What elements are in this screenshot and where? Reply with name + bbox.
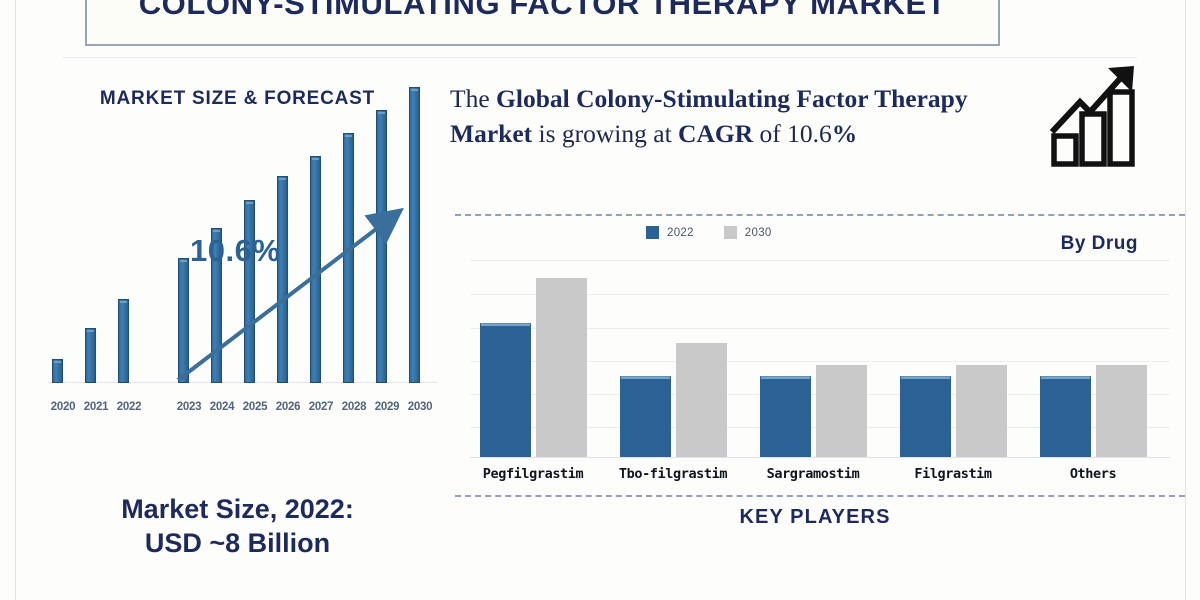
- category-label: Others: [1008, 466, 1178, 482]
- headline-segment-cagr: CAGR: [678, 119, 753, 148]
- market-size-line-2: USD ~8 Billion: [30, 527, 445, 561]
- forecast-bar-chart: 2020202120222023202420252026202720282029…: [30, 138, 445, 443]
- headline-segment-value: of 10.6: [753, 119, 832, 148]
- market-size-line-1: Market Size, 2022:: [30, 493, 445, 527]
- header-divider: [62, 57, 1137, 58]
- chart-axis-line: [470, 457, 1170, 458]
- divider-top-dashed: [455, 214, 1185, 216]
- bar-highlight: [312, 158, 319, 160]
- legend-label: 2022: [667, 227, 694, 239]
- bar-2022: [480, 323, 531, 457]
- bar-2030: [1096, 365, 1147, 457]
- bar-2022: [1040, 376, 1091, 457]
- market-size-forecast-panel: MARKET SIZE & FORECAST 20202021202220232…: [30, 78, 445, 578]
- legend-item[interactable]: 2030: [724, 226, 772, 239]
- bar-highlight: [279, 178, 286, 180]
- bar-2030: [676, 343, 727, 457]
- bar-2030: [816, 365, 867, 457]
- key-players-heading: KEY PLAYERS: [450, 506, 1180, 529]
- legend-item[interactable]: 2022: [646, 226, 694, 239]
- bar-2022: [760, 376, 811, 457]
- bar-highlight: [378, 112, 385, 114]
- chart-legend: 20222030: [646, 226, 772, 239]
- headline-segment-the: The: [450, 84, 496, 113]
- by-drug-panel: The Global Colony-Stimulating Factor The…: [450, 78, 1190, 588]
- bar-highlight: [345, 135, 352, 137]
- legend-label: 2030: [745, 227, 772, 239]
- cagr-callout-label: 10.6%: [190, 233, 280, 269]
- legend-swatch-icon: [724, 226, 737, 239]
- left-panel-heading: MARKET SIZE & FORECAST: [30, 88, 445, 110]
- market-size-statement: Market Size, 2022: USD ~8 Billion: [30, 493, 445, 561]
- bar-2030: [956, 365, 1007, 457]
- legend-swatch-icon: [646, 226, 659, 239]
- bar-highlight: [411, 89, 418, 91]
- bar-2030: [536, 278, 587, 457]
- page-border-left: [15, 0, 16, 600]
- headline-statement: The Global Colony-Stimulating Factor The…: [450, 82, 1040, 151]
- headline-segment-growing: is growing at: [532, 119, 678, 148]
- infographic-canvas: COLONY-STIMULATING FACTOR THERAPY MARKET…: [0, 0, 1200, 600]
- page-title: COLONY-STIMULATING FACTOR THERAPY MARKET: [85, 0, 1000, 22]
- bar-2022: [900, 376, 951, 457]
- by-drug-grouped-bar-chart: PegfilgrastimTbo-filgrastimSargramostimF…: [458, 246, 1178, 458]
- bar-2022: [620, 376, 671, 457]
- headline-segment-percent: %: [832, 119, 858, 148]
- growth-arrow-bars-icon: [1046, 58, 1146, 168]
- divider-bottom-dashed: [455, 495, 1185, 497]
- gridline: [470, 260, 1170, 261]
